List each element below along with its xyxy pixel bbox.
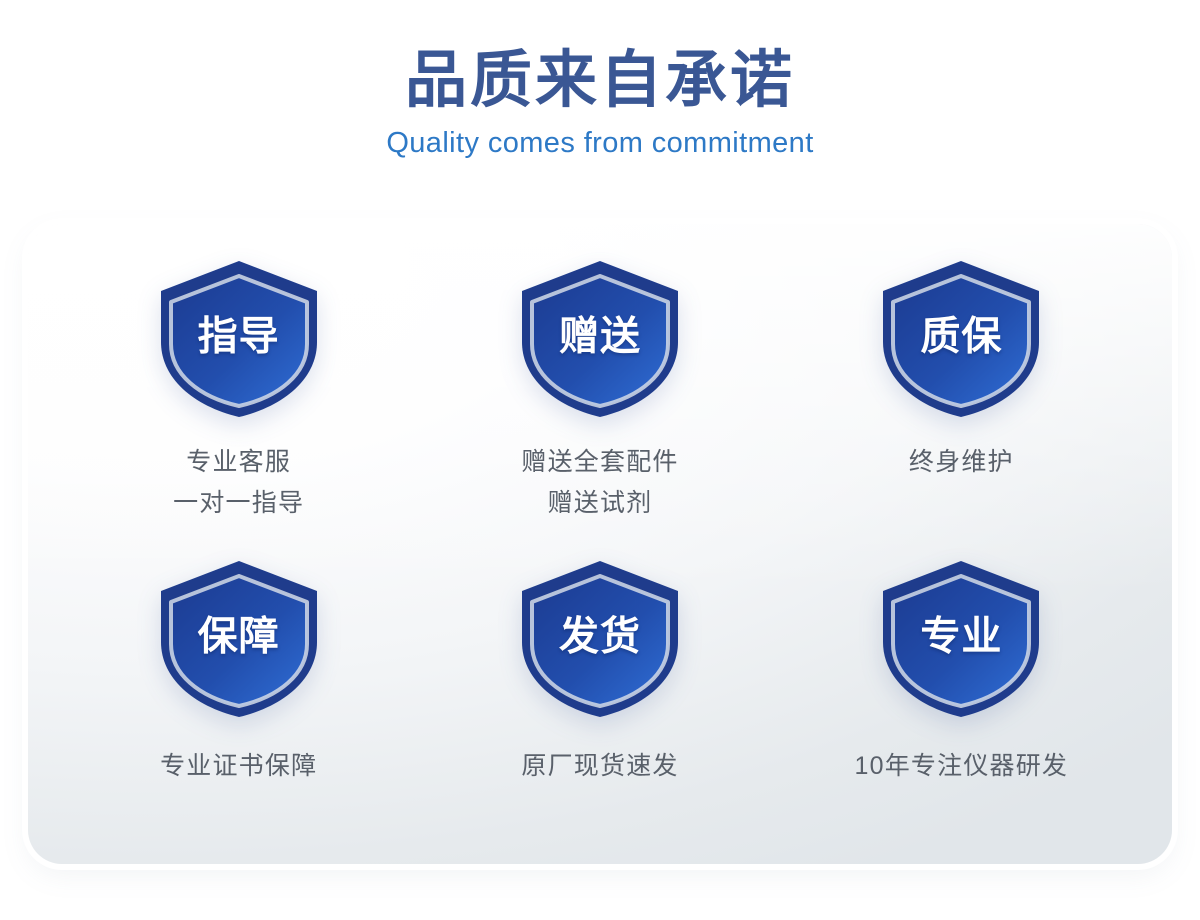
features-grid: 指导 专业客服 一对一指导 — [28, 224, 1172, 864]
page-title: 品质来自承诺 — [0, 46, 1200, 115]
feature-caption: 专业客服 一对一指导 — [173, 442, 304, 523]
feature-item-guidance[interactable]: 指导 专业客服 一对一指导 — [58, 258, 419, 548]
shield-icon: 质保 — [879, 258, 1043, 420]
feature-item-warranty[interactable]: 质保 终身维护 — [781, 258, 1142, 548]
feature-item-certification[interactable]: 保障 专业证书保障 — [58, 548, 419, 838]
feature-item-expertise[interactable]: 专业 10年专注仪器研发 — [781, 548, 1142, 838]
features-card-wrapper: 指导 专业客服 一对一指导 — [28, 224, 1172, 864]
shield-icon: 保障 — [157, 558, 321, 720]
features-card: 指导 专业客服 一对一指导 — [28, 224, 1172, 864]
shield-icon: 指导 — [157, 258, 321, 420]
feature-item-shipping[interactable]: 发货 原厂现货速发 — [419, 548, 780, 838]
shield-icon: 专业 — [879, 558, 1043, 720]
shield-icon: 赠送 — [518, 258, 682, 420]
feature-caption: 10年专注仪器研发 — [855, 746, 1069, 787]
page-header: 品质来自承诺 Quality comes from commitment — [0, 0, 1200, 160]
page-subtitle: Quality comes from commitment — [0, 127, 1200, 160]
feature-caption: 原厂现货速发 — [521, 746, 678, 787]
feature-item-free-gift[interactable]: 赠送 赠送全套配件 赠送试剂 — [419, 258, 780, 548]
shield-icon: 发货 — [518, 558, 682, 720]
feature-caption: 专业证书保障 — [160, 746, 317, 787]
feature-caption: 终身维护 — [909, 442, 1014, 483]
feature-caption: 赠送全套配件 赠送试剂 — [521, 442, 678, 523]
